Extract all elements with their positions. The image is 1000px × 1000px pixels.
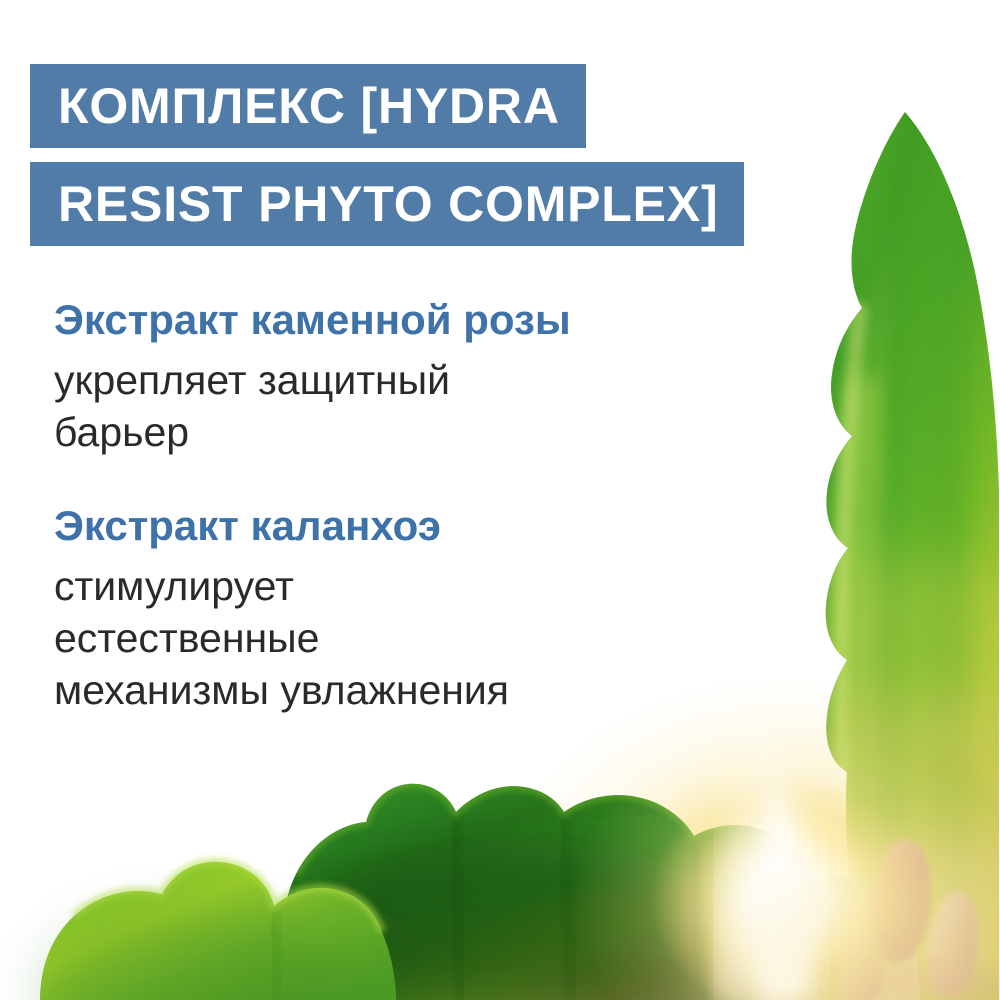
ingredient-title-kalanchoe: Экстракт каланхоэ <box>54 498 814 554</box>
headline-banner-line-2: RESIST PHYTO COMPLEX] <box>30 162 744 246</box>
ingredient-title-stone-rose: Экстракт каменной розы <box>54 292 814 348</box>
headline-banner: КОМПЛЕКС [HYDRA RESIST PHYTO COMPLEX] <box>0 64 1000 246</box>
poster-canvas: КОМПЛЕКС [HYDRA RESIST PHYTO COMPLEX] Эк… <box>0 0 1000 1000</box>
ingredient-description-kalanchoe: стимулирует естественные механизмы увлаж… <box>54 560 814 716</box>
poster-text-layer: КОМПЛЕКС [HYDRA RESIST PHYTO COMPLEX] Эк… <box>0 0 1000 1000</box>
headline-banner-line-1: КОМПЛЕКС [HYDRA <box>30 64 586 148</box>
ingredient-block-stone-rose: Экстракт каменной розы укрепляет защитны… <box>54 292 814 458</box>
ingredient-block-kalanchoe: Экстракт каланхоэ стимулирует естественн… <box>54 498 814 716</box>
ingredient-description-stone-rose: укрепляет защитный барьер <box>54 354 814 458</box>
